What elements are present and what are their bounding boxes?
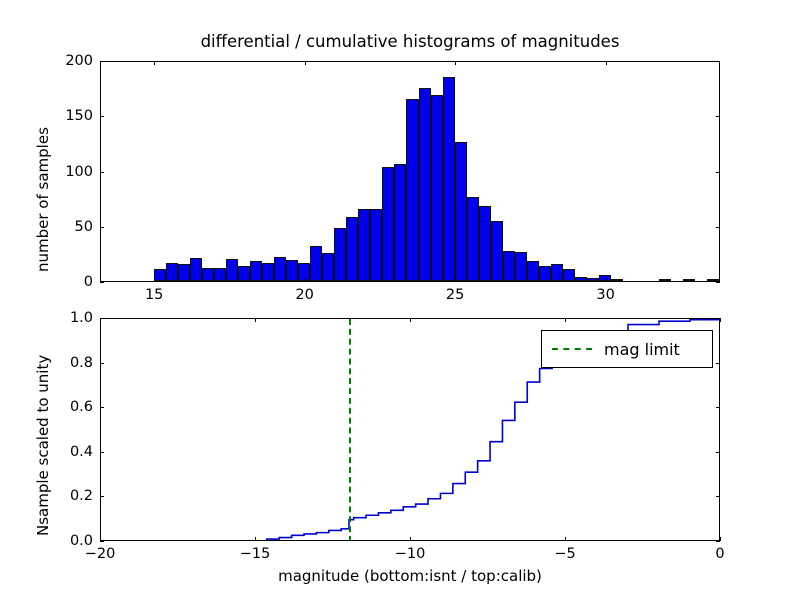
bottom-axis-y-tick [716,363,720,364]
bottom-axis-x-tick [565,537,566,541]
histogram-bar [346,217,358,281]
histogram-bar [370,209,382,281]
histogram-bar [683,279,695,281]
top-axis-y-tick [100,116,104,117]
bottom-axis-y-tick [716,407,720,408]
top-axis-x-tick [455,278,456,282]
bottom-axis-y-tick [716,452,720,453]
top-axis-y-tick [716,116,720,117]
bottom-axis-x-ticklabel: −5 [554,546,575,562]
top-axis-x-ticklabel: 30 [596,287,614,303]
differential-histogram-plot-area [101,62,719,281]
bottom-axis-x-ticklabel: −15 [240,546,271,562]
bottom-axis-x-tick [255,318,256,322]
bottom-axis-y-tick [716,496,720,497]
bottom-axis-x-ticklabel: 0 [715,546,724,562]
bottom-axis-x-tick [410,318,411,322]
histogram-bar [491,221,503,281]
bottom-axis-x-ticklabel: −10 [395,546,426,562]
top-axis-x-tick [305,278,306,282]
top-axis-y-tick [100,282,104,283]
histogram-bar [467,197,479,281]
histogram-bar [250,261,262,281]
bottom-axis-y-tick [100,541,104,542]
bottom-axis-y-tick [100,363,104,364]
histogram-bar [286,260,298,281]
bottom-axis-y-tick [716,541,720,542]
histogram-bar [479,206,491,281]
bottom-axis-x-tick [565,318,566,322]
bottom-axis-y-ticklabel: 1.0 [48,310,93,326]
histogram-bar [443,77,455,281]
histogram-bar [262,263,274,281]
histogram-bar [707,279,719,281]
top-axis-y-tick [100,172,104,173]
histogram-bar [238,266,250,281]
legend-label-mag-limit: mag limit [604,340,680,359]
top-axis-x-ticklabel: 25 [446,287,464,303]
histogram-bar [394,164,406,281]
bottom-axis-x-tick [720,318,721,322]
histogram-bar [334,228,346,281]
mag-limit-dash-icon [552,348,592,350]
top-axis-x-tick [606,61,607,65]
bottom-axis-y-tick [716,318,720,319]
top-axis-x-tick [154,61,155,65]
histogram-bar [322,253,334,281]
legend[interactable]: mag limit [541,330,713,368]
bottom-axis-y-ticklabel: 0.6 [48,399,93,415]
top-axis-y-ticklabel: 50 [48,219,93,235]
bottom-axis-y-ticklabel: 0.8 [48,355,93,371]
mag-limit-vline [349,319,351,540]
histogram-bar [587,278,599,281]
bottom-axis-y-tick [100,407,104,408]
top-axis-x-ticklabel: 20 [295,287,313,303]
matplotlib-figure: differential / cumulative histograms of … [0,0,800,600]
histogram-bar [406,99,418,281]
top-axis-y-ticklabel: 200 [48,53,93,69]
histogram-bar [154,269,166,281]
top-axis-x-tick [305,61,306,65]
bottom-axis-y-ticklabel: 0.4 [48,444,93,460]
top-axis-y-ticklabel: 0 [48,274,93,290]
histogram-bar [455,142,467,281]
histogram-bar [178,264,190,281]
top-axis-y-tick [716,227,720,228]
histogram-bar [575,277,587,281]
histogram-bar [382,167,394,281]
histogram-bar [358,209,370,281]
figure-title: differential / cumulative histograms of … [100,32,720,51]
top-axis-y-tick [100,61,104,62]
histogram-bar [659,279,671,281]
top-axis-y-ticklabel: 150 [48,108,93,124]
top-axis-y-tick [100,227,104,228]
bottom-axis-x-label: magnitude (bottom:isnt / top:calib) [100,567,720,585]
top-axis-x-tick [154,278,155,282]
top-axis-x-tick [455,61,456,65]
histogram-bar [551,264,563,281]
bottom-axis-x-tick [410,537,411,541]
histogram-bar [419,88,431,281]
histogram-bar [539,266,551,281]
top-axis-y-label: number of samples [34,127,52,272]
top-axis-y-tick [716,282,720,283]
top-axis-y-tick [716,172,720,173]
top-axis-x-tick [606,278,607,282]
histogram-bar [190,258,202,281]
histogram-bar [527,261,539,281]
histogram-bar [611,279,623,281]
histogram-bar [214,268,226,281]
differential-histogram-axes [100,61,720,282]
bottom-axis-y-tick [100,496,104,497]
histogram-bar [563,269,575,281]
top-axis-y-ticklabel: 100 [48,164,93,180]
bottom-axis-y-tick [100,452,104,453]
histogram-bar [166,263,178,281]
bottom-axis-y-label: Nsample scaled to unity [34,355,52,536]
bottom-axis-x-tick [720,537,721,541]
histogram-bar [503,251,515,281]
histogram-bar [274,257,286,281]
histogram-bar [431,95,443,281]
bottom-axis-y-ticklabel: 0.2 [48,488,93,504]
bottom-axis-y-ticklabel: 0.0 [48,533,93,549]
bottom-axis-x-tick [255,537,256,541]
histogram-bar [515,252,527,281]
histogram-bar [202,268,214,281]
histogram-bar [226,259,238,281]
top-axis-y-tick [716,61,720,62]
bottom-axis-y-tick [100,318,104,319]
histogram-bar [310,246,322,281]
top-axis-x-ticklabel: 15 [145,287,163,303]
